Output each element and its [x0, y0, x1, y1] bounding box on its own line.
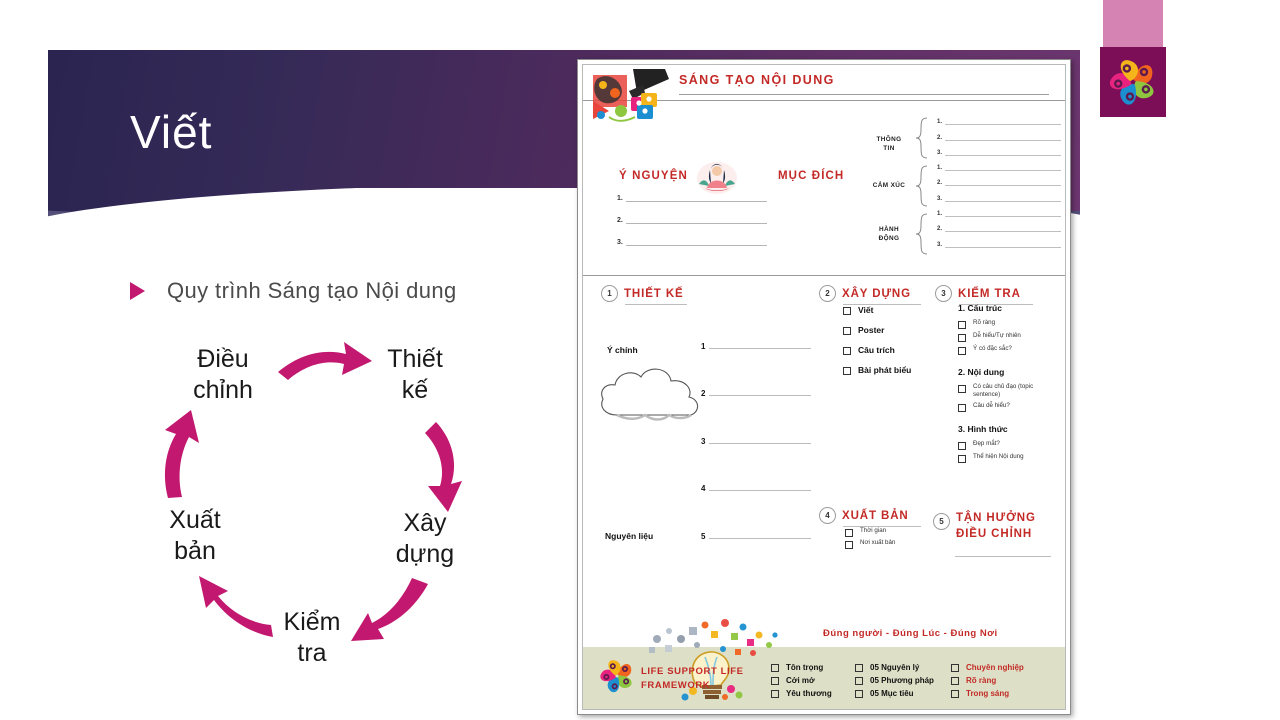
- row-number: 3.: [937, 196, 942, 202]
- write-line[interactable]: [626, 201, 767, 202]
- checklist-label: Đẹp mắt?: [973, 440, 1000, 448]
- brace-label-hanh-dong: HÀNH ĐỘNG: [865, 226, 913, 243]
- brace-line-row[interactable]: 1.: [937, 110, 1061, 125]
- checklist-label: Có câu chủ đạo (topic sentence): [973, 383, 1058, 399]
- checkbox-icon[interactable]: [843, 367, 851, 375]
- row-number: 2.: [937, 180, 942, 186]
- framework-name: LIFE SUPPORT LIFE FRAMEWORK: [641, 665, 744, 694]
- footer-item[interactable]: 05 Mục tiêu: [855, 688, 934, 698]
- check-group-hinh-thuc: 3. Hình thức Đẹp mắt? Thể hiện Nội dung: [958, 424, 1058, 463]
- footer-label: Yêu thương: [786, 689, 832, 698]
- footer-item[interactable]: 05 Phương pháp: [855, 675, 934, 685]
- brace-label-thong-tin: THÔNG TIN: [865, 136, 913, 153]
- corner-pink-block: [1103, 0, 1163, 48]
- checkbox-icon[interactable]: [958, 347, 966, 355]
- checkbox-icon[interactable]: [771, 677, 779, 685]
- row-number: 2.: [937, 226, 942, 232]
- footer-column-2: 05 Nguyên lý 05 Phương pháp 05 Mục tiêu: [855, 662, 934, 701]
- step-title: TẬN HƯỞNG ĐIỀU CHỈNH: [956, 511, 1036, 542]
- bullet-label: Quy trình Sáng tạo Nội dung: [167, 278, 457, 304]
- checklist-label: Ý có đặc sắc?: [973, 345, 1012, 353]
- step-1-lines: 1 2 3 4 5: [701, 303, 811, 541]
- checkbox-icon[interactable]: [855, 664, 863, 672]
- checkbox-icon[interactable]: [958, 321, 966, 329]
- worksheet-steps: 1 THIẾT KẾ Ý chính Nguyên liệu 1 2 3 4 5: [583, 275, 1065, 600]
- footer-slogan: Đúng người - Đúng Lúc - Đúng Nơi: [823, 628, 998, 639]
- brace-line-row[interactable]: 1.: [937, 202, 1061, 217]
- brace-line-row[interactable]: 1.: [937, 156, 1061, 171]
- write-line[interactable]: [709, 348, 811, 349]
- footer-label: 05 Mục tiêu: [870, 689, 914, 698]
- bullet-item: Quy trình Sáng tạo Nội dung: [130, 278, 457, 304]
- worksheet-title-rule: [679, 94, 1049, 95]
- row-number: 2.: [937, 135, 942, 141]
- checklist-label: Viết: [858, 305, 873, 315]
- cloud-shape-icon: [597, 363, 711, 425]
- footer-item[interactable]: Chuyên nghiệp: [951, 662, 1024, 672]
- footer-item[interactable]: Yêu thương: [771, 688, 832, 698]
- cycle-diagram: Điều chỉnh Thiết kế Xây dựng Kiểm tra Xu…: [110, 330, 540, 705]
- check-group-cau-truc: 1. Cấu trúc Rõ ràng Dễ hiểu/Tự nhiên Ý c…: [958, 303, 1058, 355]
- checkbox-icon[interactable]: [958, 442, 966, 450]
- checkbox-icon[interactable]: [843, 307, 851, 315]
- brace-groups: THÔNG TIN CẢM XÚC HÀNH ĐỘNG 1. 2. 3. 1: [865, 110, 1061, 270]
- cycle-label-xay-dung: Xây dựng: [360, 508, 490, 569]
- cycle-label-xuat-ban: Xuất bản: [130, 505, 260, 566]
- checklist-item[interactable]: Thể hiện Nội dung: [958, 453, 1058, 463]
- checklist-item[interactable]: Rõ ràng: [958, 319, 1058, 329]
- brace-line-row[interactable]: 2.: [937, 125, 1061, 140]
- worksheet-title: SÁNG TẠO NỘI DUNG: [679, 73, 835, 87]
- write-line[interactable]: [626, 223, 767, 224]
- checkbox-icon[interactable]: [958, 404, 966, 412]
- triangle-bullet-icon: [130, 282, 145, 300]
- check-group-noi-dung: 2. Nội dung Có câu chủ đạo (topic senten…: [958, 367, 1058, 412]
- row-number: 1.: [937, 119, 942, 125]
- checkbox-icon[interactable]: [771, 690, 779, 698]
- footer-label: 05 Nguyên lý: [870, 663, 919, 672]
- slide: Viết Quy trình Sáng tạo Nội dung: [0, 0, 1280, 720]
- step-1-line-row[interactable]: 2: [701, 351, 811, 399]
- footer-item[interactable]: 05 Nguyên lý: [855, 662, 934, 672]
- write-line[interactable]: [626, 245, 767, 246]
- row-number: 4: [701, 484, 705, 493]
- label-muc-dich: MỤC ĐÍCH: [778, 170, 844, 182]
- checkbox-icon[interactable]: [958, 385, 966, 393]
- page-title: Viết: [130, 105, 212, 159]
- checkbox-icon[interactable]: [855, 677, 863, 685]
- checkbox-icon[interactable]: [843, 347, 851, 355]
- checkbox-icon[interactable]: [845, 529, 853, 537]
- footer-label: Rõ ràng: [966, 676, 996, 685]
- row-number: 1.: [617, 195, 623, 202]
- row-number: 1.: [937, 211, 942, 217]
- step-number-badge: 3: [935, 285, 952, 302]
- footer-column-1: Tôn trọng Cởi mở Yêu thương: [771, 662, 832, 701]
- footer-item[interactable]: Rõ ràng: [951, 675, 1024, 685]
- checklist-label: Nơi xuất bản: [860, 539, 895, 547]
- y-nguyen-row[interactable]: 3.: [617, 239, 767, 246]
- step-1-header: 1 THIẾT KẾ: [601, 285, 684, 302]
- step-number-badge: 5: [933, 513, 950, 530]
- checkbox-icon[interactable]: [771, 664, 779, 672]
- label-y-nguyen: Ý NGUYỆN: [619, 170, 688, 182]
- row-number: 5: [701, 532, 705, 541]
- row-number: 3.: [617, 239, 623, 246]
- step-4-header: 4 XUẤT BẢN: [819, 507, 909, 524]
- step-number-badge: 1: [601, 285, 618, 302]
- worksheet-header: SÁNG TẠO NỘI DUNG: [583, 65, 1065, 101]
- group-heading: 2. Nội dung: [958, 367, 1058, 377]
- step-1-line-row[interactable]: 1: [701, 303, 811, 351]
- write-line[interactable]: [709, 490, 811, 491]
- worksheet-image[interactable]: SÁNG TẠO NỘI DUNG Ý NGUYỆN MỤC ĐÍCH: [577, 59, 1071, 715]
- row-number: 3: [701, 437, 705, 446]
- checklist-item[interactable]: Viết: [843, 305, 953, 315]
- step-title: KIỂM TRA: [958, 288, 1021, 300]
- write-line[interactable]: [945, 216, 1061, 217]
- checklist-label: Bài phát biểu: [858, 365, 911, 375]
- brace-line-row[interactable]: 2.: [937, 171, 1061, 186]
- step-2-checklist: Viết Poster Câu trích Bài phát biểu: [843, 305, 953, 385]
- write-line[interactable]: [945, 170, 1061, 171]
- step-number-badge: 4: [819, 507, 836, 524]
- cycle-label-kiem-tra: Kiểm tra: [247, 607, 377, 668]
- checklist-label: Câu dễ hiểu?: [973, 402, 1010, 410]
- checkbox-icon[interactable]: [958, 334, 966, 342]
- checkbox-icon[interactable]: [855, 690, 863, 698]
- checkbox-icon[interactable]: [958, 455, 966, 463]
- brace-line-row[interactable]: 3.: [937, 141, 1061, 156]
- checklist-item[interactable]: Bài phát biểu: [843, 365, 953, 375]
- worksheet-inner-frame: SÁNG TẠO NỘI DUNG Ý NGUYỆN MỤC ĐÍCH: [582, 64, 1066, 710]
- footer-item[interactable]: Cởi mở: [771, 675, 832, 685]
- brace-write-lines: 1. 2. 3. 1. 2. 3. 1. 2. 3.: [937, 110, 1061, 248]
- write-line[interactable]: [945, 185, 1061, 186]
- step-3-checklists: 1. Cấu trúc Rõ ràng Dễ hiểu/Tự nhiên Ý c…: [958, 303, 1058, 475]
- step-3-header: 3 KIỂM TRA: [935, 285, 1021, 302]
- label-nguyen-lieu: Nguyên liệu: [605, 531, 653, 541]
- footer-column-3: Chuyên nghiệp Rõ ràng Trong sáng: [951, 662, 1024, 701]
- checkbox-icon[interactable]: [951, 677, 959, 685]
- row-number: 3.: [937, 242, 942, 248]
- checklist-label: Thể hiện Nội dung: [973, 453, 1024, 461]
- worksheet-section-intent: Ý NGUYỆN MỤC ĐÍCH 1. 2. 3.: [583, 100, 1065, 276]
- checklist-label: Câu trích: [858, 345, 895, 355]
- footer-label: Tôn trọng: [786, 663, 823, 672]
- step-2-header: 2 XÂY DỰNG: [819, 285, 911, 302]
- row-number: 1: [701, 342, 705, 351]
- checkbox-icon[interactable]: [951, 664, 959, 672]
- step-1-line-row[interactable]: 3: [701, 398, 811, 446]
- row-number: 3.: [937, 150, 942, 156]
- step-1-line-row[interactable]: 5: [701, 493, 811, 541]
- write-line[interactable]: [945, 155, 1061, 156]
- brace-line-row[interactable]: 2.: [937, 217, 1061, 232]
- y-nguyen-lines: 1. 2. 3.: [617, 195, 767, 261]
- checkbox-icon[interactable]: [845, 541, 853, 549]
- label-y-chinh: Ý chính: [607, 345, 638, 355]
- footer-label: Chuyên nghiệp: [966, 663, 1024, 672]
- brace-line-row[interactable]: 3.: [937, 232, 1061, 247]
- row-number: 1.: [937, 165, 942, 171]
- y-nguyen-row[interactable]: 1.: [617, 195, 767, 202]
- y-nguyen-row[interactable]: 2.: [617, 217, 767, 224]
- brace-label-cam-xuc: CẢM XÚC: [865, 182, 913, 191]
- lsl-flower-logo-icon: [595, 655, 639, 697]
- row-number: 2: [701, 389, 705, 398]
- brace-line-row[interactable]: 3.: [937, 186, 1061, 201]
- checklist-item[interactable]: Đẹp mắt?: [958, 440, 1058, 450]
- footer-label: Trong sáng: [966, 689, 1009, 698]
- write-line[interactable]: [945, 231, 1061, 232]
- checklist-item[interactable]: Ý có đặc sắc?: [958, 345, 1058, 355]
- checkbox-icon[interactable]: [843, 327, 851, 335]
- worksheet-footer: Đúng người - Đúng Lúc - Đúng Nơi LIFE SU…: [583, 601, 1065, 709]
- group-heading: 1. Cấu trúc: [958, 303, 1058, 313]
- checklist-label: Thời gian: [860, 527, 886, 535]
- write-line[interactable]: [709, 443, 811, 444]
- write-line[interactable]: [945, 140, 1061, 141]
- write-line[interactable]: [709, 395, 811, 396]
- write-line[interactable]: [945, 247, 1061, 248]
- checklist-item[interactable]: Câu trích: [843, 345, 953, 355]
- write-line[interactable]: [945, 201, 1061, 202]
- checklist-item[interactable]: Poster: [843, 325, 953, 335]
- group-heading: 3. Hình thức: [958, 424, 1058, 434]
- footer-item[interactable]: Tôn trọng: [771, 662, 832, 672]
- step-5-rule: [955, 556, 1051, 557]
- write-line[interactable]: [709, 538, 811, 539]
- step-title: XÂY DỰNG: [842, 288, 911, 300]
- checklist-item[interactable]: Có câu chủ đạo (topic sentence): [958, 383, 1058, 399]
- step-1-line-row[interactable]: 4: [701, 446, 811, 494]
- cycle-label-thiet-ke: Thiết kế: [350, 344, 480, 405]
- step-number-badge: 2: [819, 285, 836, 302]
- step-5-header: 5 TẬN HƯỞNG ĐIỀU CHỈNH: [933, 511, 1036, 542]
- checklist-label: Rõ ràng: [973, 319, 995, 327]
- row-number: 2.: [617, 217, 623, 224]
- step-title: THIẾT KẾ: [624, 288, 684, 300]
- checkbox-icon[interactable]: [951, 690, 959, 698]
- cycle-label-dieu-chinh: Điều chỉnh: [148, 344, 298, 405]
- footer-item[interactable]: Trong sáng: [951, 688, 1024, 698]
- step-1-rule: [625, 304, 687, 305]
- write-line[interactable]: [945, 124, 1061, 125]
- footer-label: 05 Phương pháp: [870, 676, 934, 685]
- step-title: XUẤT BẢN: [842, 510, 909, 522]
- checklist-label: Dễ hiểu/Tự nhiên: [973, 332, 1021, 340]
- footer-label: Cởi mở: [786, 676, 815, 685]
- checklist-item[interactable]: Dễ hiểu/Tự nhiên: [958, 332, 1058, 342]
- flower-logo-icon: [1103, 51, 1163, 113]
- checklist-label: Poster: [858, 325, 884, 335]
- meditating-person-icon: [695, 158, 739, 196]
- checklist-item[interactable]: Câu dễ hiểu?: [958, 402, 1058, 412]
